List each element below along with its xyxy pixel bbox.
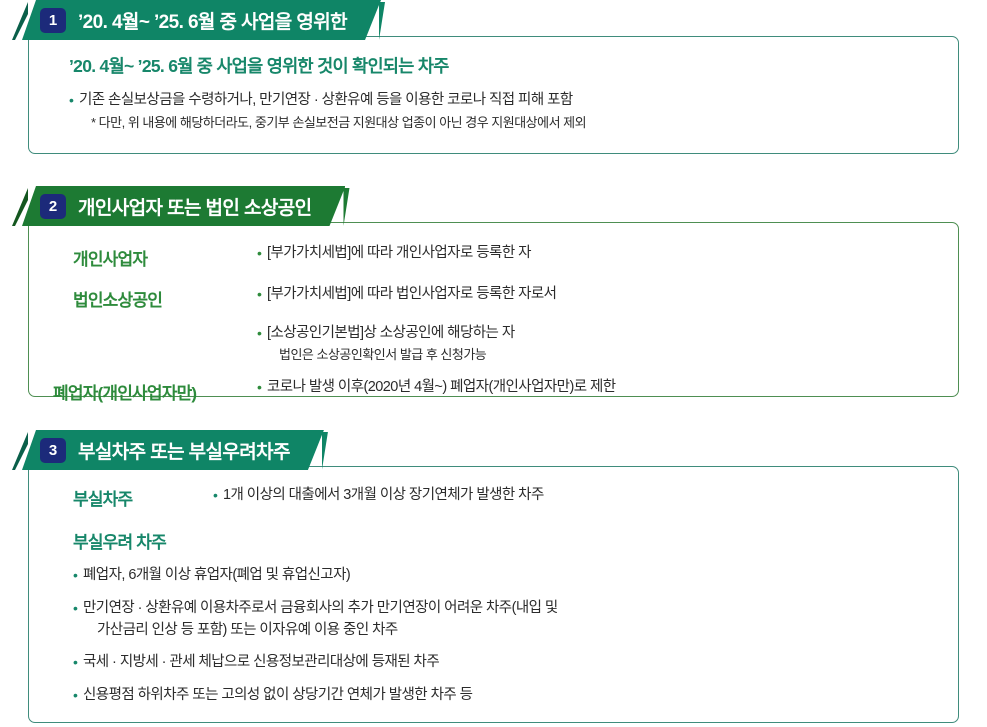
section-3: 3 부실차주 또는 부실우려차주 부실차주 • 1개 이상의 대출에서 3개월 … — [0, 430, 987, 723]
spacer — [257, 270, 958, 284]
bullet-row: • [소상공인기본법]상 소상공인에 해당하는 자 법인은 소상공인확인서 발급… — [257, 323, 958, 365]
ribbon-tail-right-icon — [322, 432, 340, 470]
section-3-list-item-block: 만기연장 · 상환유예 이용차주로서 금융회사의 추가 만기연장이 어려운 차주… — [83, 598, 558, 642]
bullet-row: • 코로나 발생 이후(2020년 4월~) 폐업자(개인사업자만)로 제한 — [257, 377, 958, 399]
section-2-row-3-subnote: 법인은 소상공인확인서 발급 후 신청가능 — [267, 346, 515, 365]
section-3-list-item-text: 국세 · 지방세 · 관세 체납으로 신용정보관리대상에 등재된 차주 — [83, 652, 439, 674]
bullet-dot-icon: • — [257, 243, 267, 263]
section-2-row-2-text: [부가가치세법]에 따라 법인사업자로 등록한 자로서 — [267, 284, 556, 306]
section-3-list-item: • 국세 · 지방세 · 관세 체납으로 신용정보관리대상에 등재된 차주 — [73, 652, 958, 674]
ribbon-tail-right-icon — [379, 2, 397, 40]
bullet-dot-icon: • — [73, 685, 83, 705]
section-2-label-cell: 폐업자(개인사업자만) — [53, 377, 257, 404]
section-1-content-box: ’20. 4월~ ’25. 6월 중 사업을 영위한 것이 확인되는 차주 • … — [28, 36, 959, 154]
spacer — [73, 270, 257, 284]
section-3-primary-label-cell: 부실차주 — [73, 485, 213, 510]
section-2-row-3-label-empty — [73, 323, 257, 365]
section-2: 2 개인사업자 또는 법인 소상공인 개인사업자 • [부가가치세법]에 따라 … — [0, 186, 987, 397]
bullet-dot-icon: • — [213, 485, 223, 505]
section-2-row-3-text: [소상공인기본법]상 소상공인에 해당하는 자 — [267, 323, 515, 345]
section-1-ribbon: 1 ’20. 4월~ ’25. 6월 중 사업을 영위한 — [22, 0, 381, 40]
infographic-page: 1 ’20. 4월~ ’25. 6월 중 사업을 영위한 ’20. 4월~ ’2… — [0, 0, 987, 727]
bullet-dot-icon: • — [73, 565, 83, 585]
bullet-dot-icon: • — [69, 90, 79, 110]
section-2-row-2-content: • [부가가치세법]에 따라 법인사업자로 등록한 자로서 — [257, 284, 958, 311]
section-3-list-item: • 신용평점 하위차주 또는 고의성 없이 상당기간 연체가 발생한 차주 등 — [73, 685, 958, 707]
section-3-list-item: • 폐업자, 6개월 이상 휴업자(폐업 및 휴업신고자) — [73, 565, 958, 587]
section-3-primary-row: 부실차주 • 1개 이상의 대출에서 3개월 이상 장기연체가 발생한 차주 — [73, 485, 958, 510]
section-2-row-1-text: [부가가치세법]에 따라 개인사업자로 등록한 자 — [267, 243, 531, 265]
bullet-row: • 1개 이상의 대출에서 3개월 이상 장기연체가 발생한 차주 — [213, 485, 958, 507]
section-2-number-badge: 2 — [40, 194, 66, 219]
section-3-list-item-text: 만기연장 · 상환유예 이용차주로서 금융회사의 추가 만기연장이 어려운 차주… — [83, 598, 558, 620]
section-1-footnote: * 다만, 위 내용에 해당하더라도, 중기부 손실보전금 지원대상 업종이 아… — [69, 114, 958, 133]
section-2-row-4-text: 코로나 발생 이후(2020년 4월~) 폐업자(개인사업자만)로 제한 — [267, 377, 616, 399]
spacer — [257, 311, 958, 323]
section-1-bullet-row: • 기존 손실보상금을 수령하거나, 만기연장 · 상환유예 등을 이용한 코로… — [69, 90, 958, 112]
section-3-list-item-text: 신용평점 하위차주 또는 고의성 없이 상당기간 연체가 발생한 차주 등 — [83, 685, 472, 707]
section-3-secondary-label: 부실우려 차주 — [73, 528, 958, 553]
spacer — [257, 365, 958, 377]
section-2-row-2-label: 법인소상공인 — [73, 291, 162, 310]
section-3-banner: 3 부실차주 또는 부실우려차주 — [0, 430, 987, 470]
bullet-row: • [부가가치세법]에 따라 개인사업자로 등록한 자 — [257, 243, 958, 265]
section-2-row-3-content: • [소상공인기본법]상 소상공인에 해당하는 자 법인은 소상공인확인서 발급… — [257, 323, 958, 365]
section-2-row-4-content: • 코로나 발생 이후(2020년 4월~) 폐업자(개인사업자만)로 제한 — [257, 377, 958, 404]
section-2-label-cell: 개인사업자 — [73, 243, 257, 270]
section-3-primary-text: 1개 이상의 대출에서 3개월 이상 장기연체가 발생한 차주 — [223, 485, 544, 507]
section-2-ribbon: 2 개인사업자 또는 법인 소상공인 — [22, 186, 345, 226]
section-3-banner-title: 부실차주 또는 부실우려차주 — [78, 437, 290, 464]
section-1-number-badge: 1 — [40, 8, 66, 33]
bullet-row: • [부가가치세법]에 따라 법인사업자로 등록한 자로서 — [257, 284, 958, 306]
section-2-label-cell: 법인소상공인 — [73, 284, 257, 311]
section-2-row-4-label: 폐업자(개인사업자만) — [53, 384, 196, 403]
bullet-dot-icon: • — [257, 377, 267, 397]
section-3-list-item: • 만기연장 · 상환유예 이용차주로서 금융회사의 추가 만기연장이 어려운 … — [73, 598, 958, 642]
section-2-row-1-content: • [부가가치세법]에 따라 개인사업자로 등록한 자 — [257, 243, 958, 270]
bullet-dot-icon: • — [73, 652, 83, 672]
section-1: 1 ’20. 4월~ ’25. 6월 중 사업을 영위한 ’20. 4월~ ’2… — [0, 0, 987, 154]
spacer — [73, 365, 257, 377]
section-2-row-1-label: 개인사업자 — [73, 250, 147, 269]
bullet-dot-icon: • — [73, 598, 83, 618]
section-3-content-box: 부실차주 • 1개 이상의 대출에서 3개월 이상 장기연체가 발생한 차주 부… — [28, 466, 959, 723]
bullet-dot-icon: • — [257, 323, 267, 343]
section-2-row-3-block: [소상공인기본법]상 소상공인에 해당하는 자 법인은 소상공인확인서 발급 후… — [267, 323, 515, 365]
section-1-bullet-text: 기존 손실보상금을 수령하거나, 만기연장 · 상환유예 등을 이용한 코로나 … — [79, 90, 573, 112]
section-2-content-box: 개인사업자 • [부가가치세법]에 따라 개인사업자로 등록한 자 법인소상공인… — [28, 222, 959, 397]
section-1-heading: ’20. 4월~ ’25. 6월 중 사업을 영위한 것이 확인되는 차주 — [69, 53, 958, 78]
section-3-number-badge: 3 — [40, 438, 66, 463]
section-1-banner-title: ’20. 4월~ ’25. 6월 중 사업을 영위한 — [78, 7, 347, 34]
section-3-ribbon: 3 부실차주 또는 부실우려차주 — [22, 430, 324, 470]
section-3-list-item-text: 폐업자, 6개월 이상 휴업자(폐업 및 휴업신고자) — [83, 565, 350, 587]
bullet-dot-icon: • — [257, 284, 267, 304]
section-2-banner-title: 개인사업자 또는 법인 소상공인 — [78, 193, 311, 220]
ribbon-tail-right-icon — [343, 188, 361, 226]
section-2-banner: 2 개인사업자 또는 법인 소상공인 — [0, 186, 987, 226]
section-3-list-item-text-cont: 가산금리 인상 등 포함) 또는 이자유예 이용 중인 차주 — [83, 620, 558, 642]
spacer — [73, 311, 257, 323]
section-1-banner: 1 ’20. 4월~ ’25. 6월 중 사업을 영위한 — [0, 0, 987, 40]
section-3-primary-label: 부실차주 — [73, 490, 132, 509]
